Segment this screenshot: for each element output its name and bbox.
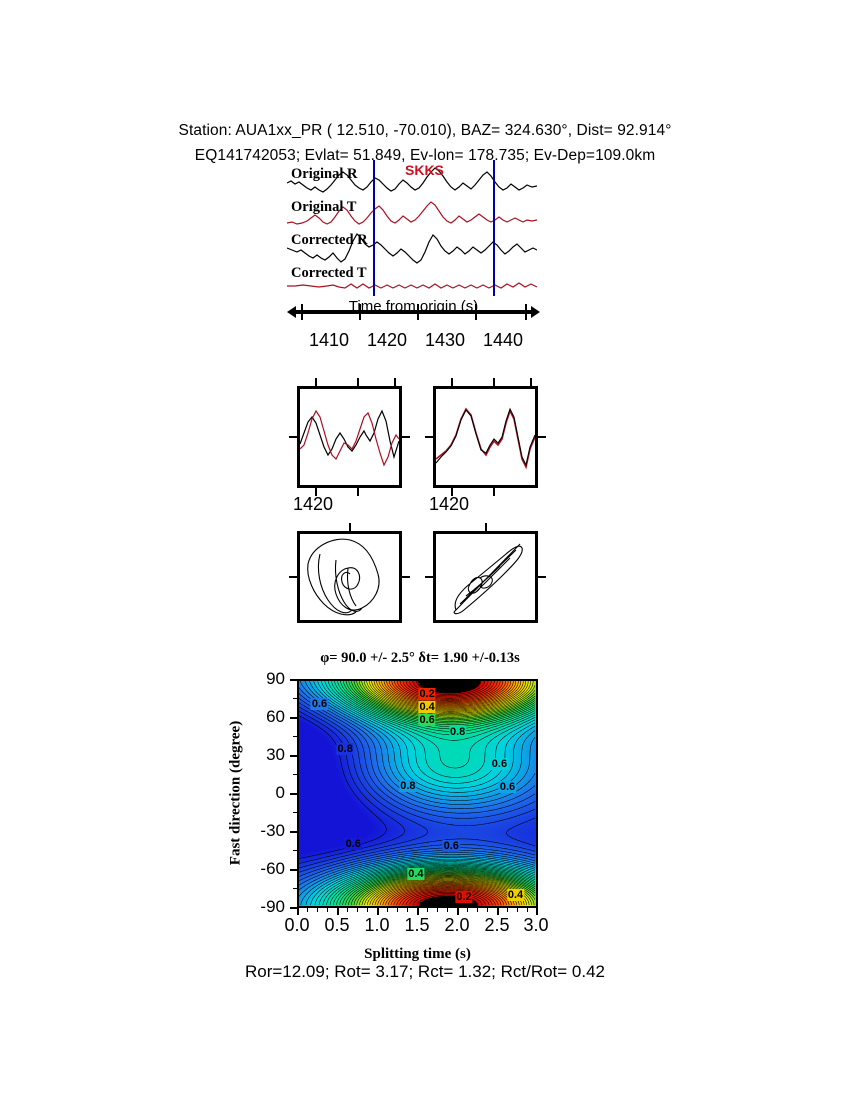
contour-value-label: 0.6: [418, 714, 435, 726]
x-axis-minor-tick: [397, 908, 398, 912]
contour-value-label: 0.8: [337, 743, 354, 755]
contour-value-label: 0.6: [491, 758, 508, 770]
slow-trace-uncorrected: [300, 411, 399, 465]
time-axis: [287, 300, 540, 316]
box-tick-left: [289, 436, 297, 438]
contour-value-label: 0.6: [499, 781, 516, 793]
x-axis-title: Splitting time (s): [297, 946, 538, 963]
figure-header: Station: AUA1xx_PR ( 12.510, -70.010), B…: [0, 118, 850, 168]
time-axis-arrow-right: [531, 306, 540, 318]
fastslow-uncorrected-tick-label: 1420: [293, 494, 333, 515]
y-tick-label: -60: [260, 859, 285, 879]
x-axis-minor-tick: [427, 908, 428, 912]
fastslow-corrected-box: [433, 386, 538, 488]
quality-statistics: Ror=12.09; Rot= 3.17; Rct= 1.32; Rct/Rot…: [0, 962, 850, 982]
hodogram-uncorrected-svg: [300, 534, 399, 620]
box-tick-right: [402, 576, 410, 578]
contour-value-label: 0.6: [345, 838, 362, 850]
contour-value-label: 0.6: [311, 698, 328, 710]
hodogram-uncorrected-path: [308, 539, 379, 615]
hodogram-corrected-path: [454, 544, 522, 614]
box-tick-top: [493, 378, 495, 386]
y-axis-tick: [290, 755, 297, 757]
trace-label-corrected-t: Corrected T: [291, 265, 367, 282]
x-axis-minor-tick: [387, 908, 388, 912]
x-axis-minor-tick: [407, 908, 408, 912]
contour-value-label: 0.2: [455, 891, 472, 903]
time-tick-label: 1420: [367, 330, 407, 351]
station-info-line: Station: AUA1xx_PR ( 12.510, -70.010), B…: [0, 118, 850, 143]
x-axis-minor-tick: [357, 908, 358, 912]
contour-line: [299, 716, 386, 859]
x-axis-tick: [297, 908, 299, 915]
fastslow-uncorrected-panel: 1420: [297, 386, 402, 488]
y-axis-tick: [290, 907, 297, 909]
x-axis-tick: [536, 908, 538, 915]
x-axis-minor-tick: [367, 908, 368, 912]
contour-value-label: 0.4: [418, 701, 435, 713]
time-axis-tick: [417, 304, 419, 320]
box-tick-right: [538, 576, 546, 578]
slow-trace-corrected: [436, 409, 535, 465]
x-axis-minor-tick: [487, 908, 488, 912]
fastslow-uncorrected-box: [297, 386, 402, 488]
y-axis-tick: [290, 831, 297, 833]
x-axis-minor-tick: [507, 908, 508, 912]
x-axis-minor-tick: [447, 908, 448, 912]
y-tick-label: -30: [260, 821, 285, 841]
time-tick-label: 1410: [309, 330, 349, 351]
fastslow-corrected-panel: 1420: [433, 386, 538, 488]
y-tick-label: 0: [276, 783, 285, 803]
skks-phase-label: SKKS: [405, 162, 444, 178]
y-axis-tick: [290, 717, 297, 719]
x-tick-label: 1.0: [364, 915, 389, 936]
particle-motion-uncorrected-panel: [297, 531, 402, 623]
particle-motion-corrected-panel: [433, 531, 538, 623]
box-tick-top: [315, 378, 317, 386]
x-axis-minor-tick: [317, 908, 318, 912]
fast-trace-uncorrected: [300, 411, 399, 457]
box-tick-top: [451, 378, 453, 386]
trace-label-original-t: Original T: [291, 199, 356, 216]
y-axis-tick: [290, 793, 297, 795]
fast-trace-corrected: [436, 409, 535, 467]
contour-value-label: 0.8: [399, 780, 416, 792]
x-axis-minor-tick: [467, 908, 468, 912]
box-tick-top: [485, 523, 487, 531]
box-tick-top: [357, 378, 359, 386]
contour-value-label: 0.8: [449, 726, 466, 738]
time-axis-tick: [525, 304, 527, 320]
box-tick-bottom: [493, 488, 495, 496]
time-axis-tick: [475, 304, 477, 320]
energy-contour-plot: 90 60 30 0 -30 -60 -90 0.0 0.5 1.0 1.5 2…: [297, 679, 538, 908]
time-axis-bar: [295, 310, 532, 314]
x-tick-label: 0.0: [284, 915, 309, 936]
y-tick-label: 30: [266, 745, 285, 765]
x-axis-minor-tick: [307, 908, 308, 912]
y-tick-label: 90: [266, 669, 285, 689]
contour-value-label: 0.4: [407, 868, 424, 880]
box-tick-right: [402, 436, 410, 438]
y-tick-label: 60: [266, 707, 285, 727]
time-axis-tick: [359, 304, 361, 320]
waveform-stack-panel: SKKS Original R Original T Corrected R C…: [287, 166, 537, 296]
y-axis-tick: [290, 679, 297, 681]
trace-corrected-t: [287, 283, 537, 288]
trace-label-original-r: Original R: [291, 166, 357, 183]
x-axis-tick: [417, 908, 419, 915]
x-tick-label: 0.5: [324, 915, 349, 936]
time-tick-label: 1440: [483, 330, 523, 351]
x-axis-tick: [457, 908, 459, 915]
contour-value-label: 0.2: [418, 688, 435, 700]
box-tick-bottom: [357, 488, 359, 496]
fastslow-corrected-tick-label: 1420: [429, 494, 469, 515]
x-axis-minor-tick: [517, 908, 518, 912]
x-axis-tick: [377, 908, 379, 915]
phase-window-marker-end: [493, 160, 495, 296]
y-axis-tick: [290, 869, 297, 871]
time-axis-tick-labels: 1410 1420 1430 1440: [272, 330, 557, 354]
x-axis-tick: [497, 908, 499, 915]
x-axis-minor-tick: [327, 908, 328, 912]
contour-value-label: 0.6: [443, 840, 460, 852]
box-tick-top: [349, 523, 351, 531]
splitting-parameters-title: φ= 90.0 +/- 2.5° δt= 1.90 +/-0.13s: [230, 650, 610, 667]
x-axis-minor-tick: [437, 908, 438, 912]
contour-value-label: 0.4: [507, 889, 524, 901]
box-tick-left: [289, 576, 297, 578]
particle-motion-uncorrected-box: [297, 531, 402, 623]
hodogram-corrected-svg: [436, 534, 535, 620]
box-tick-top: [394, 378, 396, 386]
box-tick-left: [425, 576, 433, 578]
x-tick-label: 2.0: [444, 915, 469, 936]
x-axis-minor-tick: [477, 908, 478, 912]
x-tick-label: 2.5: [484, 915, 509, 936]
time-tick-label: 1430: [425, 330, 465, 351]
box-tick-right: [538, 436, 546, 438]
y-tick-label: -90: [260, 897, 285, 917]
particle-motion-corrected-box: [433, 531, 538, 623]
phase-window-marker-start: [373, 160, 375, 296]
fastslow-uncorrected-svg: [300, 389, 399, 485]
box-tick-top: [530, 378, 532, 386]
x-axis-tick: [337, 908, 339, 915]
trace-label-corrected-r: Corrected R: [291, 232, 368, 249]
x-axis-minor-tick: [527, 908, 528, 912]
x-axis-minor-tick: [347, 908, 348, 912]
y-axis-title: Fast direction (degree): [228, 721, 245, 865]
box-tick-left: [425, 436, 433, 438]
fastslow-corrected-svg: [436, 389, 535, 485]
x-tick-label: 3.0: [523, 915, 548, 936]
x-tick-label: 1.5: [404, 915, 429, 936]
time-axis-tick: [301, 304, 303, 320]
